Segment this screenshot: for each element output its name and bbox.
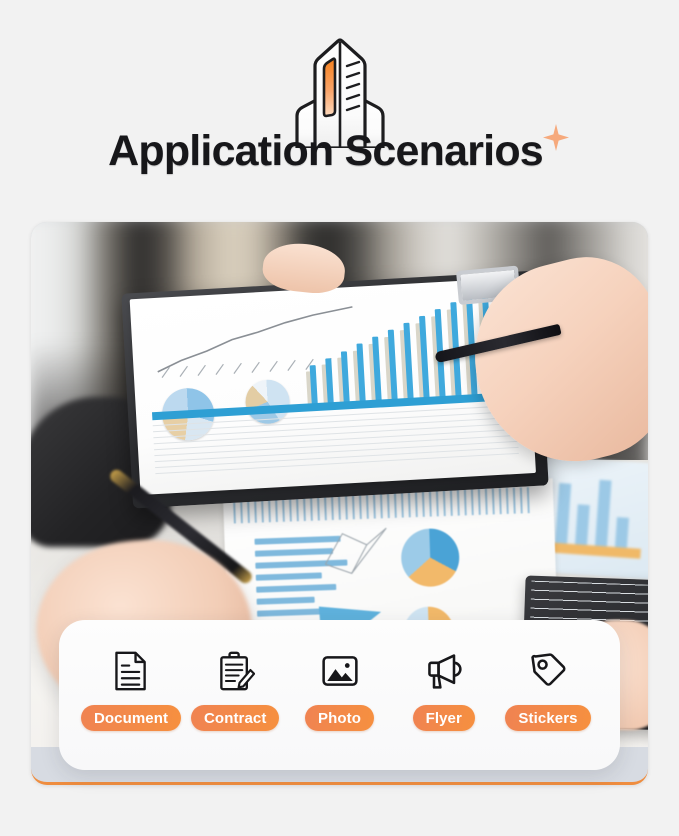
page-title: Application Scenarios — [108, 130, 543, 173]
category-pill-stickers[interactable]: Stickers — [505, 705, 590, 731]
megaphone-icon — [422, 648, 466, 694]
page-header: Application Scenarios — [0, 0, 679, 222]
paper-pie-chart-1 — [400, 528, 460, 588]
page-title-row: Application Scenarios — [0, 130, 679, 173]
photo-icon — [318, 648, 362, 694]
contract-icon — [213, 648, 257, 694]
document-icon — [109, 648, 153, 694]
sparkle-icon — [541, 123, 571, 153]
category-item-document[interactable]: Document — [81, 620, 181, 731]
tag-icon — [526, 648, 570, 694]
category-item-stickers[interactable]: Stickers — [498, 620, 598, 731]
category-pill-document[interactable]: Document — [81, 705, 181, 731]
category-item-photo[interactable]: Photo — [290, 620, 390, 731]
category-pill-contract[interactable]: Contract — [191, 705, 279, 731]
category-pill-flyer[interactable]: Flyer — [413, 705, 475, 731]
category-card: Document Contract — [59, 620, 620, 770]
category-item-contract[interactable]: Contract — [185, 620, 285, 731]
category-pill-photo[interactable]: Photo — [305, 705, 374, 731]
paper-network-diagram — [320, 522, 394, 580]
report-page — [130, 277, 536, 495]
category-item-flyer[interactable]: Flyer — [394, 620, 494, 731]
